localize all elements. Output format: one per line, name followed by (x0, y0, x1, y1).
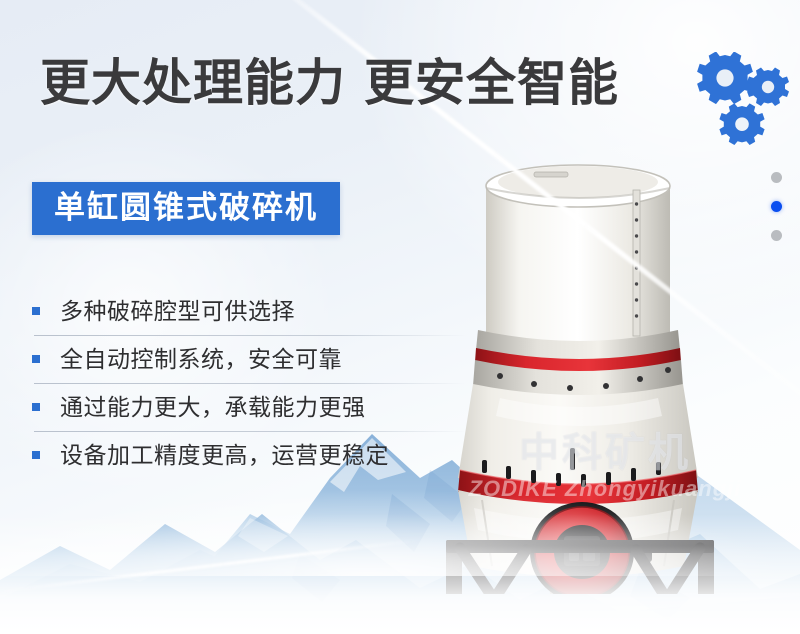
headline-part-1: 更大处理能力 (40, 55, 346, 111)
list-item: 全自动控制系统，安全可靠 (26, 336, 456, 384)
carousel-dot-1[interactable] (771, 172, 782, 183)
feature-list: 多种破碎腔型可供选择 全自动控制系统，安全可靠 通过能力更大，承载能力更强 设备… (26, 288, 456, 480)
bullet-square-icon (32, 307, 40, 315)
headline-part-2: 更安全智能 (364, 55, 619, 111)
bullet-square-icon (32, 451, 40, 459)
feature-text: 多种破碎腔型可供选择 (60, 292, 295, 326)
carousel-dot-2[interactable] (771, 201, 782, 212)
carousel-dot-3[interactable] (771, 230, 782, 241)
light-streak-lower (0, 539, 419, 594)
product-banner: 中科矿机 ZODIKE Zhongyikuangji 更 (0, 0, 800, 634)
list-item: 多种破碎腔型可供选择 (26, 288, 456, 336)
gears-icon (694, 52, 792, 152)
list-item: 设备加工精度更高，运营更稳定 (26, 432, 456, 480)
product-name-badge: 单缸圆锥式破碎机 (32, 182, 340, 235)
carousel-pagination[interactable] (771, 172, 782, 241)
feature-text: 设备加工精度更高，运营更稳定 (60, 436, 389, 470)
feature-text: 通过能力更大，承载能力更强 (60, 388, 366, 422)
feature-text: 全自动控制系统，安全可靠 (60, 340, 342, 374)
list-item: 通过能力更大，承载能力更强 (26, 384, 456, 432)
page-title: 更大处理能力更安全智能 (40, 58, 619, 108)
product-image-cone-crusher (430, 148, 730, 594)
bullet-square-icon (32, 355, 40, 363)
bullet-square-icon (32, 403, 40, 411)
